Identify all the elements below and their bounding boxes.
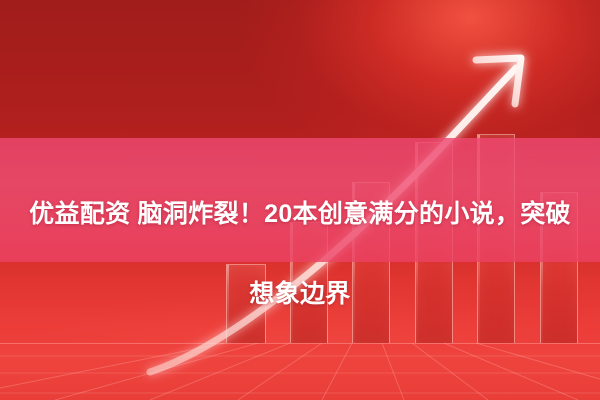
promo-banner: 优益配资 脑洞炸裂！20本创意满分的小说，突破 想象边界 [0,0,600,400]
headline-line-2: 想象边界 [8,274,592,314]
headline-line-1: 优益配资 脑洞炸裂！20本创意满分的小说，突破 [8,194,592,234]
page-title: 优益配资 脑洞炸裂！20本创意满分的小说，突破 想象边界 [0,154,600,354]
